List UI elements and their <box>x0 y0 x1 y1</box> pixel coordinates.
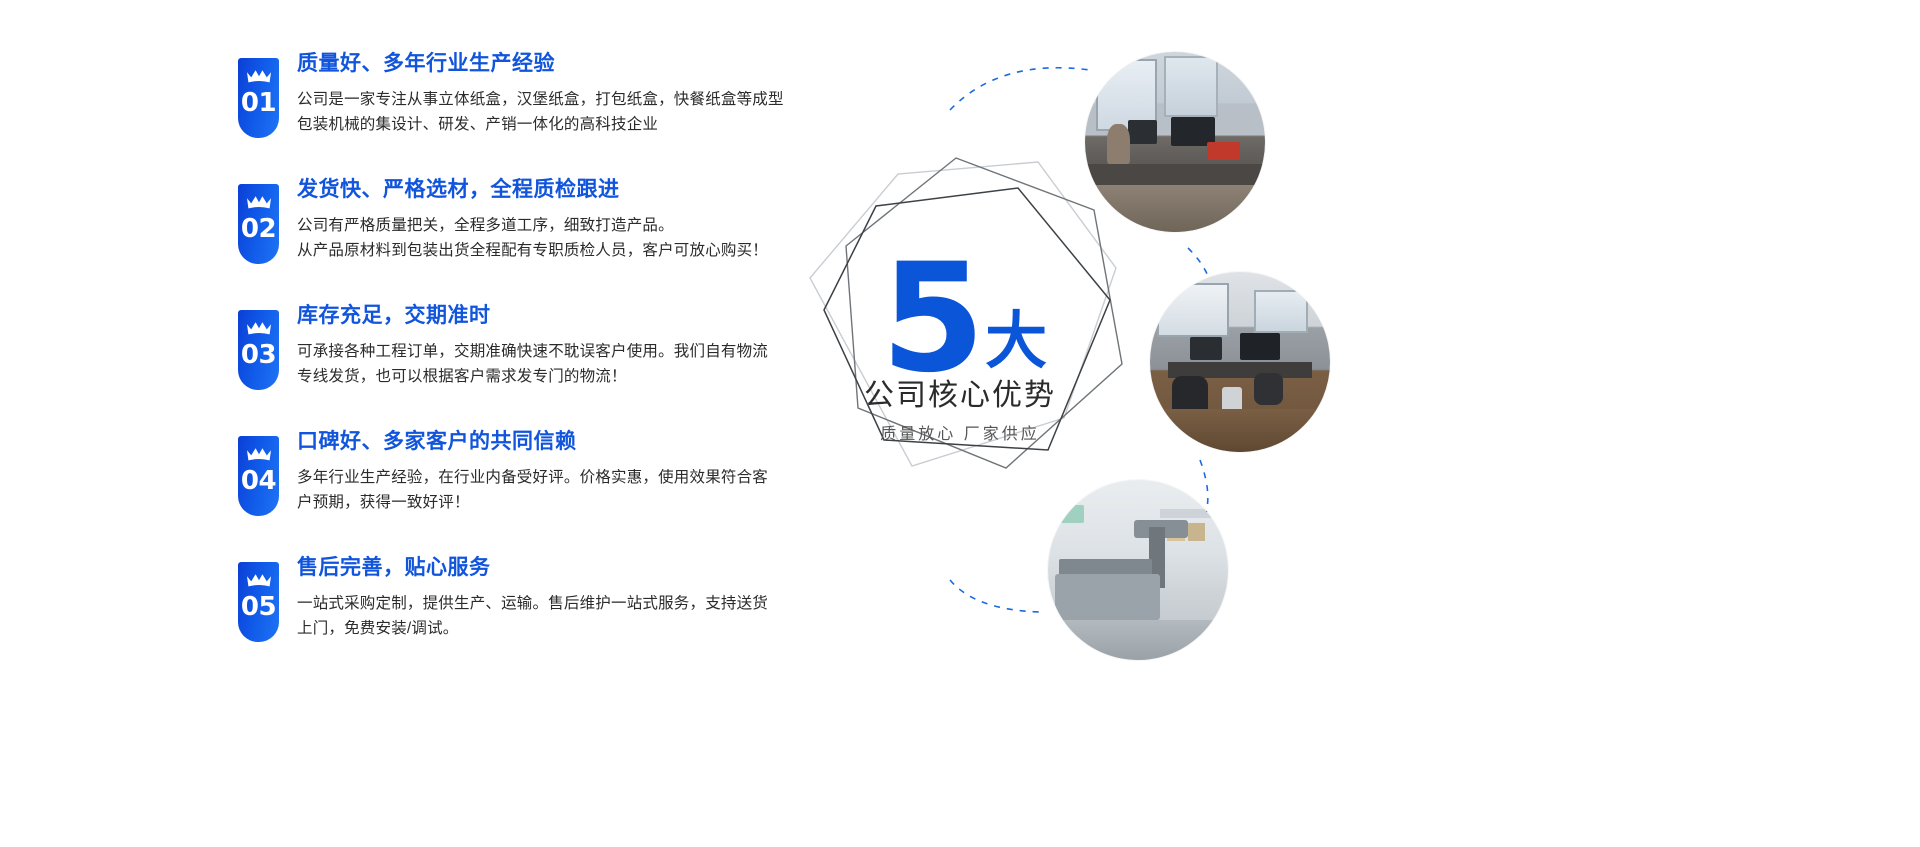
office-room-photo <box>1150 272 1330 452</box>
feature-number: 03 <box>241 342 276 368</box>
feature-text: 口碑好、多家客户的共同信赖 多年行业生产经验，在行业内备受好评。价格实惠，使用效… <box>297 430 778 515</box>
feature-line: 可承接各种工程订单，交期准确快速不耽误客户使用。我们自有物流 <box>297 339 778 364</box>
feature-line: 公司是一家专注从事立体纸盒，汉堡纸盒，打包纸盒，快餐纸盒等成型 <box>297 87 778 112</box>
feature-line: 多年行业生产经验，在行业内备受好评。价格实惠，使用效果符合客 <box>297 465 778 490</box>
feature-item: 05 售后完善，贴心服务 一站式采购定制，提供生产、运输。售后维护一站式服务，支… <box>238 556 778 660</box>
emblem-tagline: 质量放心 厂家供应 <box>880 425 1039 445</box>
feature-heading: 质量好、多年行业生产经验 <box>297 52 778 76</box>
feature-badge-02: 02 <box>238 184 279 264</box>
feature-badge-01: 01 <box>238 58 279 138</box>
feature-heading: 售后完善，贴心服务 <box>297 556 778 580</box>
office-workstation-photo <box>1085 52 1265 232</box>
feature-number: 01 <box>241 90 276 116</box>
feature-heading: 口碑好、多家客户的共同信赖 <box>297 430 778 454</box>
feature-badge-03: 03 <box>238 310 279 390</box>
emblem-subtitle: 公司核心优势 <box>864 379 1056 413</box>
feature-line: 户预期，获得一致好评！ <box>297 490 778 515</box>
feature-number: 02 <box>241 216 276 242</box>
feature-list: 01 质量好、多年行业生产经验 公司是一家专注从事立体纸盒，汉堡纸盒，打包纸盒，… <box>238 52 778 660</box>
feature-line: 专线发货，也可以根据客户需求发专门的物流！ <box>297 364 778 389</box>
emblem-big-number-group: 5 大 <box>881 255 1047 383</box>
crown-icon <box>246 573 272 590</box>
feature-line: 从产品原材料到包装出货全程配有专职质检人员，客户可放心购买！ <box>297 238 778 263</box>
feature-heading: 发货快、严格选材，全程质检跟进 <box>297 178 778 202</box>
feature-item: 04 口碑好、多家客户的共同信赖 多年行业生产经验，在行业内备受好评。价格实惠，… <box>238 430 778 534</box>
feature-badge-05: 05 <box>238 562 279 642</box>
crown-icon <box>246 69 272 86</box>
crown-icon <box>246 321 272 338</box>
feature-badge-04: 04 <box>238 436 279 516</box>
production-machine-photo <box>1048 480 1228 660</box>
feature-text: 售后完善，贴心服务 一站式采购定制，提供生产、运输。售后维护一站式服务，支持送货… <box>297 556 778 641</box>
emblem-unit: 大 <box>985 311 1047 373</box>
feature-line: 上门，免费安装/调试。 <box>297 616 778 641</box>
feature-line: 包装机械的集设计、研发、产销一体化的高科技企业 <box>297 112 778 137</box>
crown-icon <box>246 447 272 464</box>
feature-text: 质量好、多年行业生产经验 公司是一家专注从事立体纸盒，汉堡纸盒，打包纸盒，快餐纸… <box>297 52 778 137</box>
feature-line: 公司有严格质量把关，全程多道工序，细致打造产品。 <box>297 213 778 238</box>
feature-text: 发货快、严格选材，全程质检跟进 公司有严格质量把关，全程多道工序，细致打造产品。… <box>297 178 778 263</box>
advantages-banner: 01 质量好、多年行业生产经验 公司是一家专注从事立体纸盒，汉堡纸盒，打包纸盒，… <box>0 0 1920 847</box>
emblem-big-number: 5 <box>881 255 981 383</box>
feature-heading: 库存充足，交期准时 <box>297 304 778 328</box>
feature-item: 02 发货快、严格选材，全程质检跟进 公司有严格质量把关，全程多道工序，细致打造… <box>238 178 778 282</box>
feature-item: 01 质量好、多年行业生产经验 公司是一家专注从事立体纸盒，汉堡纸盒，打包纸盒，… <box>238 52 778 156</box>
feature-number: 05 <box>241 594 276 620</box>
feature-number: 04 <box>241 468 276 494</box>
feature-line: 一站式采购定制，提供生产、运输。售后维护一站式服务，支持送货 <box>297 591 778 616</box>
feature-item: 03 库存充足，交期准时 可承接各种工程订单，交期准确快速不耽误客户使用。我们自… <box>238 304 778 408</box>
crown-icon <box>246 195 272 212</box>
feature-text: 库存充足，交期准时 可承接各种工程订单，交期准确快速不耽误客户使用。我们自有物流… <box>297 304 778 389</box>
